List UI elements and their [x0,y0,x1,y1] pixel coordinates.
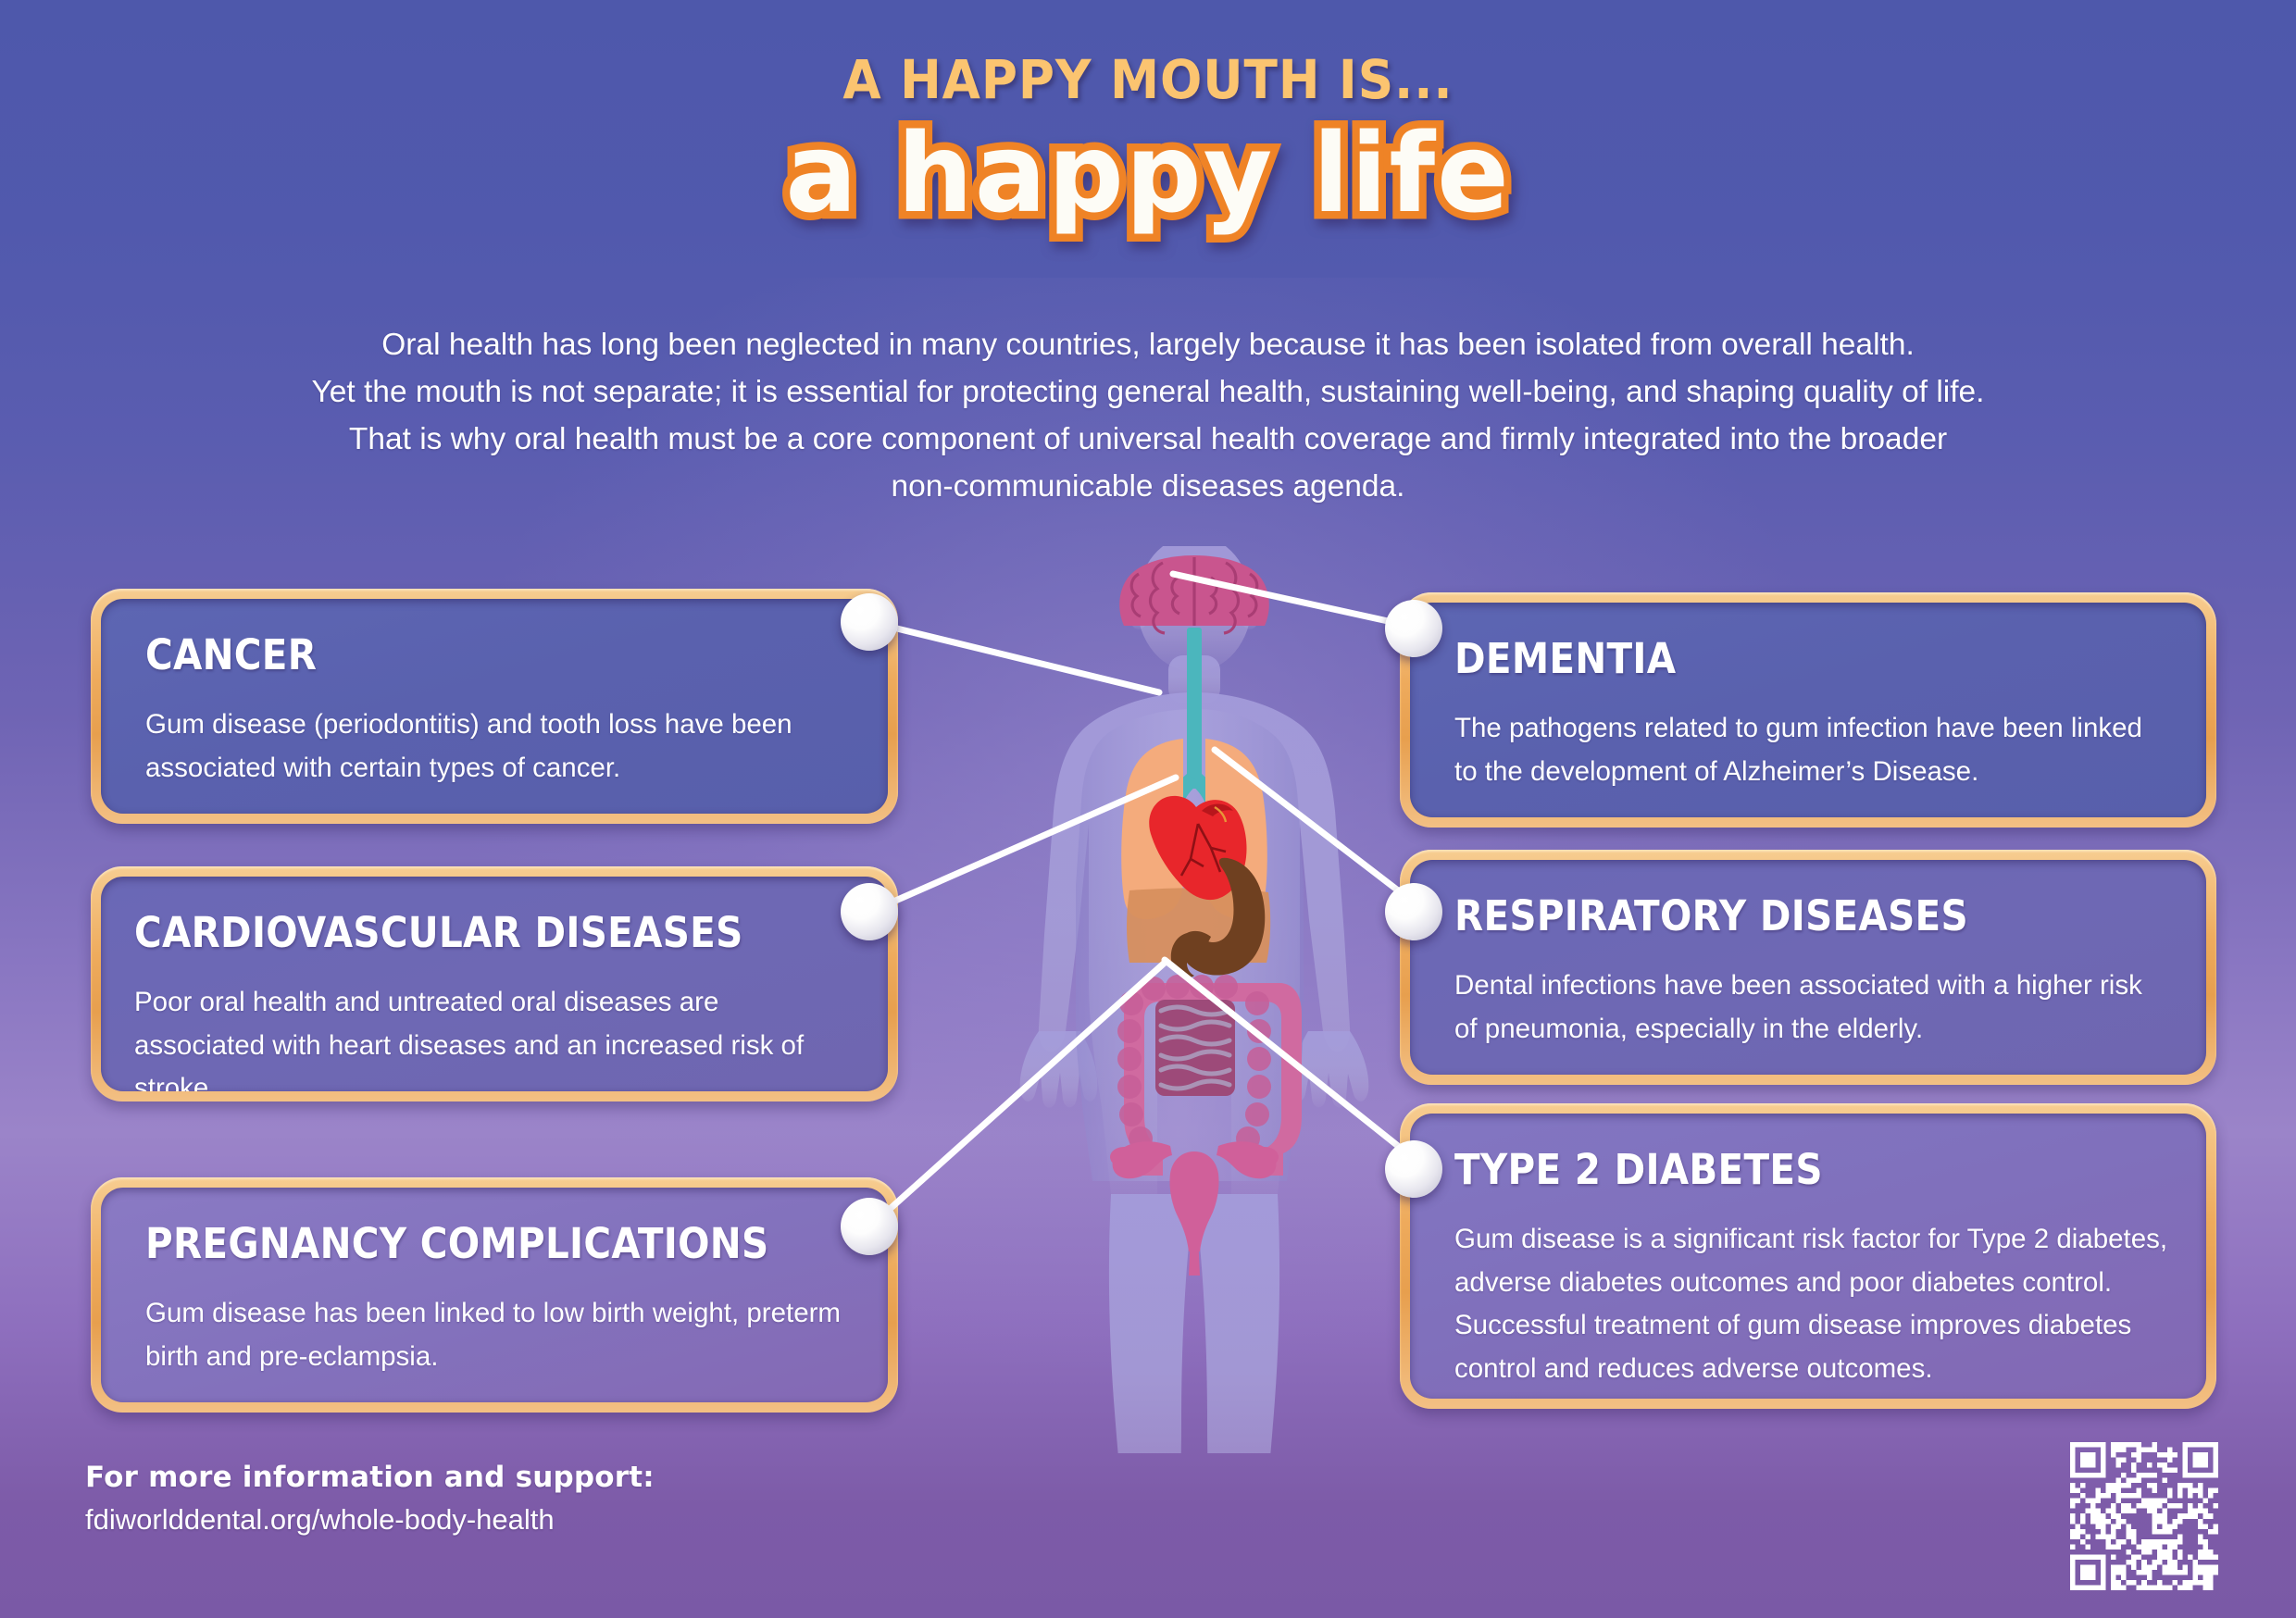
card-dementia-inner: DEMENTIA The pathogens related to gum in… [1410,603,2206,817]
card-respiratory-body: Dental infections have been associated w… [1454,965,2169,1051]
intro-line-1: Oral health has long been neglected in m… [194,322,2102,369]
qr-code-icon[interactable] [2070,1442,2218,1590]
card-diabetes-heading: TYPE 2 DIABETES [1454,1145,2098,1194]
card-cancer[interactable]: CANCER Gum disease (periodontitis) and t… [91,589,898,824]
brain-organ [1119,555,1269,633]
card-pregnancy[interactable]: PREGNANCY COMPLICATIONS Gum disease has … [91,1177,898,1413]
card-cancer-heading: CANCER [145,630,780,679]
title-line-1: A HAPPY MOUTH IS... [92,48,2204,111]
intro-line-4: non-communicable diseases agenda. [194,464,2102,511]
pin-pregnancy[interactable] [841,1198,898,1255]
intro-paragraph: Oral health has long been neglected in m… [194,322,2102,511]
card-diabetes-body: Gum disease is a significant risk factor… [1454,1218,2169,1390]
card-diabetes[interactable]: TYPE 2 DIABETES Gum disease is a signifi… [1400,1103,2216,1409]
footer-block: For more information and support: fdiwor… [85,1461,655,1537]
card-pregnancy-body: Gum disease has been linked to low birth… [145,1292,851,1378]
card-cardiovascular-inner: CARDIOVASCULAR DISEASES Poor oral health… [101,877,888,1091]
pin-respiratory[interactable] [1385,883,1442,940]
footer-label: For more information and support: [85,1461,655,1494]
pin-dementia[interactable] [1385,600,1442,657]
intro-line-2: Yet the mouth is not separate; it is ess… [194,369,2102,417]
card-pregnancy-inner: PREGNANCY COMPLICATIONS Gum disease has … [101,1188,888,1402]
small-intestine-organ [1155,1000,1235,1096]
title-block: A HAPPY MOUTH IS... a happy life [0,48,2296,231]
intro-line-3: That is why oral health must be a core c… [194,417,2102,464]
infographic-poster: A HAPPY MOUTH IS... a happy life Oral he… [0,0,2296,1618]
card-dementia-heading: DEMENTIA [1454,634,2098,683]
card-dementia-body: The pathogens related to gum infection h… [1454,707,2169,793]
footer-url[interactable]: fdiworlddental.org/whole-body-health [85,1503,655,1537]
card-pregnancy-heading: PREGNANCY COMPLICATIONS [145,1219,780,1268]
pin-diabetes[interactable] [1385,1140,1442,1198]
title-line-2: a happy life [34,117,2262,231]
card-diabetes-inner: TYPE 2 DIABETES Gum disease is a signifi… [1410,1114,2206,1399]
card-respiratory-inner: RESPIRATORY DISEASES Dental infections h… [1410,860,2206,1075]
pin-cancer[interactable] [841,593,898,651]
pin-cardiovascular[interactable] [841,883,898,940]
card-respiratory[interactable]: RESPIRATORY DISEASES Dental infections h… [1400,850,2216,1085]
card-cancer-inner: CANCER Gum disease (periodontitis) and t… [101,599,888,814]
human-body-figure [972,546,1416,1453]
card-cardiovascular[interactable]: CARDIOVASCULAR DISEASES Poor oral health… [91,866,898,1101]
card-cancer-body: Gum disease (periodontitis) and tooth lo… [145,703,851,790]
card-cardiovascular-body: Poor oral health and untreated oral dise… [134,981,851,1091]
card-respiratory-heading: RESPIRATORY DISEASES [1454,891,2098,940]
card-cardiovascular-heading: CARDIOVASCULAR DISEASES [134,908,780,957]
card-dementia[interactable]: DEMENTIA The pathogens related to gum in… [1400,592,2216,828]
